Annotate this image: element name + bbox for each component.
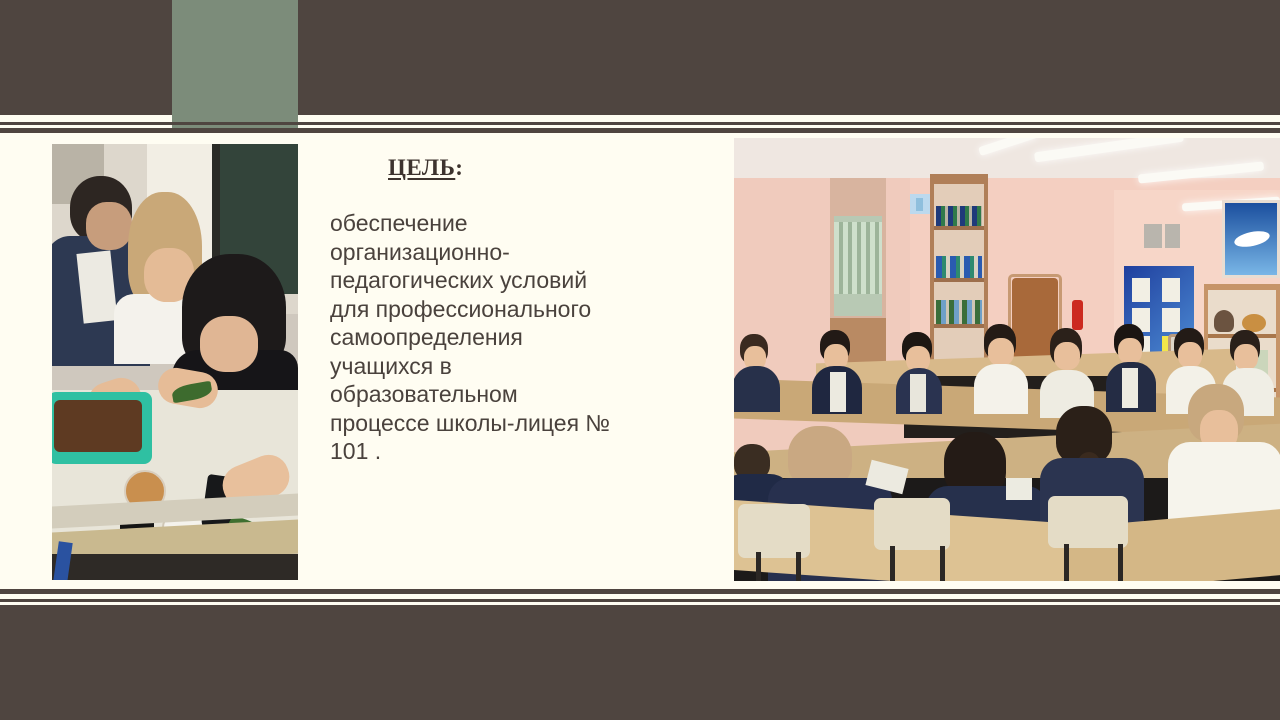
chair xyxy=(1048,496,1128,548)
goal-heading-colon: : xyxy=(455,155,463,180)
goal-text-block: ЦЕЛЬ: обеспечение организационно- педаго… xyxy=(330,155,710,466)
top-thin-rule xyxy=(0,122,1280,125)
chair xyxy=(738,504,810,558)
chair xyxy=(874,498,950,550)
goal-paragraph: обеспечение организационно- педагогическ… xyxy=(330,209,710,466)
right-photo xyxy=(734,138,1280,581)
bottom-thin-rule xyxy=(0,599,1280,602)
left-photo xyxy=(52,144,298,580)
bottom-band xyxy=(0,605,1280,720)
goal-heading: ЦЕЛЬ: xyxy=(388,155,710,181)
presentation-slide: ЦЕЛЬ: обеспечение организационно- педаго… xyxy=(0,0,1280,720)
bottom-thick-rule xyxy=(0,589,1280,594)
goal-heading-word: ЦЕЛЬ xyxy=(388,155,455,180)
slide-body: ЦЕЛЬ: обеспечение организационно- педаго… xyxy=(0,133,1280,589)
